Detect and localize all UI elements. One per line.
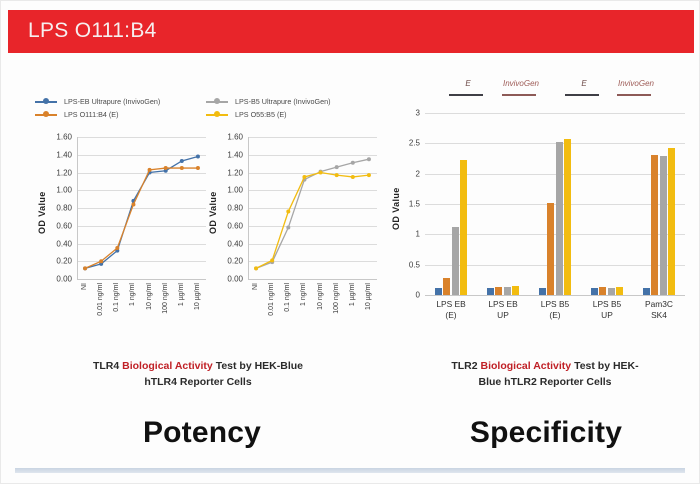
y-tick-4: 2 [416, 169, 420, 178]
group-header-2: InvivoGen [494, 79, 548, 88]
y-tick-0: 0.00 [227, 275, 243, 284]
bar-5-4 [668, 148, 675, 295]
category-label-3-line2: (E) [529, 310, 581, 321]
bar-4-4 [616, 287, 623, 295]
y-axis-title: OD Value [37, 182, 47, 234]
series-2-point-2 [286, 210, 290, 214]
right-caption-highlight: Biological Activity [481, 360, 572, 372]
bar-5-3 [660, 156, 667, 295]
bar-5-2 [651, 155, 658, 295]
x-tick-6: 1 µg/ml [178, 283, 185, 306]
series-line-2 [256, 173, 369, 269]
y-tick-2: 0.40 [56, 239, 72, 248]
y-tick-3: 1.5 [409, 200, 420, 209]
y-tick-1: 0.20 [227, 257, 243, 266]
bar-2-4 [512, 286, 519, 295]
y-tick-2: 0.40 [227, 239, 243, 248]
group-header-3: E [557, 79, 611, 88]
legend-marker-1 [35, 101, 57, 103]
left-chart-caption: TLR4 Biological Activity Test by HEK-Blu… [37, 358, 359, 390]
series-line-2 [85, 168, 198, 268]
legend-dot-2 [214, 111, 220, 117]
x-tick-3: 1 ng/ml [129, 283, 136, 306]
legend-marker-1 [206, 101, 228, 103]
legend-dot-1 [214, 98, 220, 104]
series-2-point-3 [302, 175, 306, 179]
chart-tlr4-o55b5: LPS-B5 Ultrapure (InvivoGen)LPS O55:B5 (… [206, 97, 381, 337]
bar-1-2 [443, 278, 450, 295]
group-header-4: InvivoGen [609, 79, 663, 88]
series-2-point-5 [335, 173, 339, 177]
x-tick-5: 100 ng/ml [162, 283, 169, 314]
category-label-1-line2: (E) [425, 310, 477, 321]
series-2-point-6 [180, 166, 184, 170]
left-caption-highlight: Biological Activity [122, 360, 213, 372]
category-label-2-line2: UP [477, 310, 529, 321]
chart1-legend: LPS-EB Ultrapure (InvivoGen)LPS O111:B4 … [35, 97, 210, 119]
bar-5-1 [643, 288, 650, 295]
y-tick-6: 1.20 [56, 168, 72, 177]
series-line-1 [85, 157, 198, 269]
x-axis-line [77, 279, 206, 280]
category-label-3-line1: LPS B5 [529, 299, 581, 310]
group-rule-4 [617, 94, 651, 96]
left-caption-post: Test by HEK-Blue [213, 360, 303, 372]
y-tick-5: 1.00 [56, 186, 72, 195]
series-2-point-1 [270, 258, 274, 262]
y-tick-3: 0.60 [227, 221, 243, 230]
y-tick-7: 1.40 [56, 150, 72, 159]
y-tick-8: 1.60 [227, 133, 243, 142]
group-rule-1 [449, 94, 483, 96]
y-tick-0: 0 [416, 291, 420, 300]
right-chart-caption: TLR2 Biological Activity Test by HEK- Bl… [409, 358, 681, 390]
series-1-point-2 [286, 226, 290, 230]
right-caption-pre: TLR2 [451, 360, 480, 372]
bar-2-1 [487, 288, 494, 295]
series-1-point-7 [196, 155, 200, 159]
bar-4-2 [599, 287, 606, 295]
series-1-point-7 [367, 157, 371, 161]
y-tick-6: 3 [416, 109, 420, 118]
y-tick-3: 0.60 [56, 221, 72, 230]
category-label-4: LPS B5UP [581, 299, 633, 321]
series-2-point-4 [319, 171, 323, 175]
y-tick-4: 0.80 [227, 204, 243, 213]
x-tick-5: 100 ng/ml [333, 283, 340, 314]
chart2-legend: LPS-B5 Ultrapure (InvivoGen)LPS O55:B5 (… [206, 97, 381, 119]
x-tick-3: 1 ng/ml [300, 283, 307, 306]
legend-marker-2 [206, 114, 228, 116]
y-tick-5: 1.00 [227, 186, 243, 195]
series-1-point-5 [335, 165, 339, 169]
chart-tlr4-o111b4: LPS-EB Ultrapure (InvivoGen)LPS O111:B4 … [35, 97, 210, 337]
series-2-point-2 [115, 246, 119, 250]
category-label-2-line1: LPS EB [477, 299, 529, 310]
y-axis-title: OD Value [208, 182, 218, 234]
slide-canvas: LPS O111:B4 LPS-EB Ultrapure (InvivoGen)… [0, 0, 700, 484]
y-tick-1: 0.20 [56, 257, 72, 266]
x-tick-4: 10 ng/ml [146, 283, 153, 310]
bar-3-2 [547, 203, 554, 295]
chart-tlr2-specificity: EInvivoGenEInvivoGen OD Value00.511.522.… [399, 79, 691, 337]
y-tick-5: 2.5 [409, 139, 420, 148]
bar-2-3 [504, 287, 511, 295]
series-2-point-7 [367, 173, 371, 177]
right-caption-post: Test by HEK- [571, 360, 638, 372]
legend-label-1: LPS-B5 Ultrapure (InvivoGen) [235, 97, 330, 106]
bar-4-1 [591, 288, 598, 295]
legend-item-2: LPS O55:B5 (E) [206, 110, 381, 119]
title-banner: LPS O111:B4 [8, 10, 694, 53]
group-rule-3 [565, 94, 599, 96]
x-axis-line [425, 295, 685, 296]
y-tick-4: 0.80 [56, 204, 72, 213]
category-label-4-line2: UP [581, 310, 633, 321]
x-tick-1: 0.01 ng/ml [268, 283, 275, 316]
x-tick-4: 10 ng/ml [317, 283, 324, 310]
bar-3-4 [564, 139, 571, 295]
line-series-svg [248, 137, 377, 279]
x-tick-7: 10 µg/ml [365, 283, 372, 310]
bar-1-1 [435, 288, 442, 295]
bar-1-3 [452, 227, 459, 295]
legend-label-2: LPS O55:B5 (E) [235, 110, 287, 119]
series-2-point-7 [196, 166, 200, 170]
gridline-6 [425, 113, 685, 114]
legend-item-2: LPS O111:B4 (E) [35, 110, 210, 119]
series-2-point-3 [131, 202, 135, 206]
series-1-point-6 [180, 159, 184, 163]
potency-label: Potency [97, 416, 307, 450]
group-header-1: E [441, 79, 495, 88]
left-caption-pre: TLR4 [93, 360, 122, 372]
series-2-point-4 [148, 168, 152, 172]
series-1-point-6 [351, 161, 355, 165]
specificity-label: Specificity [431, 416, 661, 450]
right-caption-line2: Blue hTLR2 Reporter Cells [409, 374, 681, 390]
y-tick-7: 1.40 [227, 150, 243, 159]
page-title: LPS O111:B4 [28, 19, 157, 43]
legend-dot-1 [43, 98, 49, 104]
line-series-svg [77, 137, 206, 279]
bar-4-3 [608, 288, 615, 295]
chart3-plot-area: OD Value00.511.522.53LPS EB(E)LPS EBUPLP… [399, 107, 691, 337]
category-label-2: LPS EBUP [477, 299, 529, 321]
x-tick-6: 1 µg/ml [349, 283, 356, 306]
footer-band [15, 468, 685, 473]
series-2-point-5 [164, 166, 168, 170]
y-tick-1: 0.5 [409, 260, 420, 269]
x-tick-2: 0.1 ng/ml [113, 283, 120, 312]
legend-item-1: LPS-EB Ultrapure (InvivoGen) [35, 97, 210, 106]
legend-label-1: LPS-EB Ultrapure (InvivoGen) [64, 97, 160, 106]
x-tick-1: 0.01 ng/ml [97, 283, 104, 316]
bar-3-3 [556, 142, 563, 295]
series-2-point-0 [254, 266, 258, 270]
x-tick-0: NI [252, 283, 259, 290]
category-label-5-line1: Pam3C [633, 299, 685, 310]
series-2-point-6 [351, 175, 355, 179]
chart1-plot-area: OD Value0.000.200.400.600.801.001.201.40… [35, 131, 210, 337]
legend-label-2: LPS O111:B4 (E) [64, 110, 118, 119]
category-label-1: LPS EB(E) [425, 299, 477, 321]
y-tick-8: 1.60 [56, 133, 72, 142]
bar-1-4 [460, 160, 467, 295]
x-tick-0: NI [81, 283, 88, 290]
category-label-4-line1: LPS B5 [581, 299, 633, 310]
left-caption-line2: hTLR4 Reporter Cells [37, 374, 359, 390]
category-label-1-line1: LPS EB [425, 299, 477, 310]
x-tick-7: 10 µg/ml [194, 283, 201, 310]
x-tick-2: 0.1 ng/ml [284, 283, 291, 312]
legend-marker-2 [35, 114, 57, 116]
category-label-5: Pam3CSK4 [633, 299, 685, 321]
bar-3-1 [539, 288, 546, 295]
y-axis-title: OD Value [391, 178, 401, 230]
legend-dot-2 [43, 111, 49, 117]
legend-item-1: LPS-B5 Ultrapure (InvivoGen) [206, 97, 381, 106]
y-tick-6: 1.20 [227, 168, 243, 177]
chart2-plot-area: OD Value0.000.200.400.600.801.001.201.40… [206, 131, 381, 337]
bar-2-2 [495, 287, 502, 295]
series-2-point-0 [83, 266, 87, 270]
group-rule-2 [502, 94, 536, 96]
x-axis-line [248, 279, 377, 280]
y-tick-0: 0.00 [56, 275, 72, 284]
category-label-3: LPS B5(E) [529, 299, 581, 321]
category-label-5-line2: SK4 [633, 310, 685, 321]
y-tick-2: 1 [416, 230, 420, 239]
series-2-point-1 [99, 259, 103, 263]
